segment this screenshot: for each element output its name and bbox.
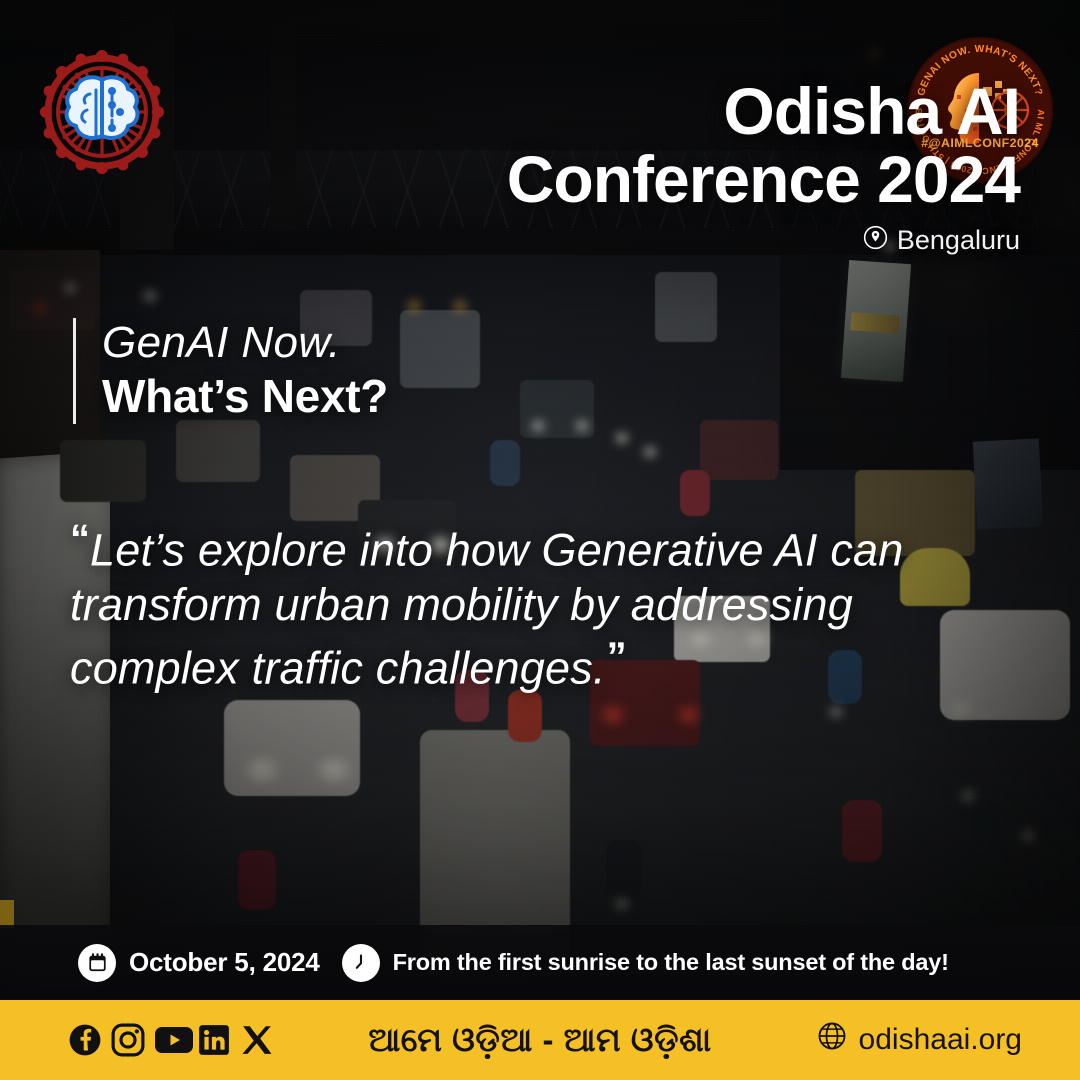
quote-open-mark: “ [70, 517, 88, 561]
footer-bar: ଆମେ ଓଡ଼ିଆ - ଆମ ଓଡ଼ିଶା odishaai.org [0, 1000, 1080, 1080]
tagline-line-1: GenAI Now. [102, 318, 388, 367]
tagline-line-2: What’s Next? [102, 369, 388, 423]
location-pin-icon [863, 225, 888, 257]
quote-block: “Let’s explore into how Generative AI ca… [70, 515, 910, 697]
quote-text: Let’s explore into how Generative AI can… [70, 525, 903, 694]
event-info-strip: October 5, 2024 From the first sunrise t… [0, 925, 1080, 1000]
calendar-icon [78, 944, 116, 982]
event-date-label: October 5, 2024 [129, 947, 320, 978]
page-title: Odisha AI Conference 2024 [0, 78, 1020, 214]
quote-close-mark: ” [607, 635, 625, 679]
tagline-block: GenAI Now. What’s Next? [73, 318, 388, 424]
location-row: Bengaluru [0, 225, 1020, 257]
event-time-label: From the first sunrise to the last sunse… [393, 949, 949, 976]
odia-slogan: ଆମେ ଓଡ଼ିଆ - ଆମ ଓଡ଼ିଶା [0, 1021, 1080, 1060]
event-time-chip: From the first sunrise to the last sunse… [342, 944, 949, 982]
event-date-chip: October 5, 2024 [78, 944, 320, 982]
poster-canvas: GENAI NOW. WHAT'S NEXT? ODISHA AI ML CON… [0, 0, 1080, 1080]
location-label: Bengaluru [897, 225, 1020, 256]
clock-icon [342, 944, 380, 982]
title-block: Odisha AI Conference 2024 Bengaluru [0, 78, 1020, 257]
yellow-edge-accent [0, 900, 14, 928]
title-line-2: Conference 2024 [0, 146, 1020, 214]
title-line-1: Odisha AI [723, 74, 1020, 148]
